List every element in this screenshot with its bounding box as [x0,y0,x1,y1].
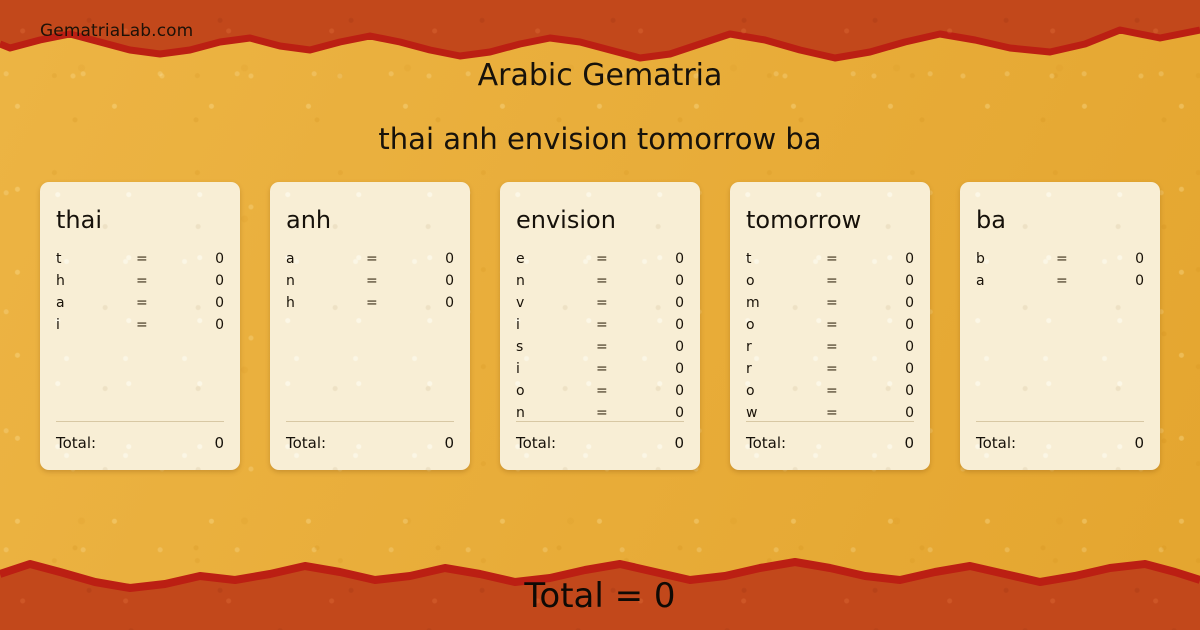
card-divider [746,421,914,422]
letter-row: o=0 [746,317,914,339]
equals-sign: = [596,273,640,289]
card-total-label: Total: [976,434,1016,452]
word-card-footer: Total:0 [286,421,454,452]
equals-sign: = [596,361,640,377]
letter-row: b=0 [976,251,1144,273]
page-title: Arabic Gematria [0,58,1200,93]
equals-sign: = [826,251,870,267]
letter-label: i [516,317,596,333]
card-total-row: Total:0 [56,434,224,452]
site-brand[interactable]: GematriaLab.com [40,21,193,41]
letter-value: 0 [640,405,684,421]
equals-sign: = [826,361,870,377]
letter-row: n=0 [516,273,684,295]
equals-sign: = [596,405,640,421]
card-total-label: Total: [56,434,96,452]
letter-label: t [56,251,136,267]
letter-value: 0 [640,251,684,267]
word-card-title: envision [516,208,684,232]
letter-row: t=0 [746,251,914,273]
letter-label: n [516,273,596,289]
word-card-title: tomorrow [746,208,914,232]
equals-sign: = [596,383,640,399]
letter-label: w [746,405,826,421]
letter-label: r [746,361,826,377]
equals-sign: = [596,251,640,267]
card-divider [516,421,684,422]
card-total-row: Total:0 [516,434,684,452]
card-total-value: 0 [674,434,684,452]
letter-value: 0 [1100,251,1144,267]
equals-sign: = [596,317,640,333]
grand-total: Total = 0 [0,576,1200,616]
letter-label: v [516,295,596,311]
letter-label: s [516,339,596,355]
letter-label: o [746,273,826,289]
card-total-label: Total: [746,434,786,452]
equals-sign: = [136,251,180,267]
equals-sign: = [366,251,410,267]
gematria-page: GematriaLab.com Arabic Gematria thai anh… [0,0,1200,630]
letter-row: r=0 [746,339,914,361]
letter-value: 0 [640,317,684,333]
letter-value: 0 [640,361,684,377]
word-card-footer: Total:0 [56,421,224,452]
letter-value: 0 [870,251,914,267]
word-card-footer: Total:0 [746,421,914,452]
word-card-title: anh [286,208,454,232]
equals-sign: = [826,273,870,289]
phrase-subtitle: thai anh envision tomorrow ba [0,122,1200,156]
letter-label: t [746,251,826,267]
card-divider [976,421,1144,422]
letter-row: h=0 [286,295,454,317]
equals-sign: = [826,405,870,421]
card-total-row: Total:0 [286,434,454,452]
word-card-title: thai [56,208,224,232]
letter-row: r=0 [746,361,914,383]
letter-value: 0 [180,251,224,267]
letter-label: n [516,405,596,421]
card-total-value: 0 [444,434,454,452]
card-total-label: Total: [516,434,556,452]
letter-row: t=0 [56,251,224,273]
equals-sign: = [1056,251,1100,267]
letter-label: e [516,251,596,267]
letter-label: r [746,339,826,355]
equals-sign: = [826,295,870,311]
word-card-title: ba [976,208,1144,232]
word-card-footer: Total:0 [516,421,684,452]
letter-value: 0 [870,361,914,377]
equals-sign: = [826,339,870,355]
equals-sign: = [366,295,410,311]
equals-sign: = [826,383,870,399]
letter-row: i=0 [56,317,224,339]
letter-label: o [746,383,826,399]
letter-row: o=0 [516,383,684,405]
letter-value: 0 [870,383,914,399]
equals-sign: = [136,317,180,333]
letter-row: i=0 [516,317,684,339]
letter-label: b [976,251,1056,267]
letter-row: o=0 [746,273,914,295]
letter-rows: a=0n=0h=0 [286,251,454,317]
letter-label: a [56,295,136,311]
equals-sign: = [1056,273,1100,289]
letter-rows: b=0a=0 [976,251,1144,295]
letter-value: 0 [640,339,684,355]
word-card-footer: Total:0 [976,421,1144,452]
letter-value: 0 [870,405,914,421]
letter-row: n=0 [286,273,454,295]
letter-row: m=0 [746,295,914,317]
letter-row: s=0 [516,339,684,361]
letter-label: h [286,295,366,311]
card-total-row: Total:0 [976,434,1144,452]
equals-sign: = [826,317,870,333]
letter-label: i [516,361,596,377]
letter-value: 0 [870,295,914,311]
letter-value: 0 [410,295,454,311]
letter-rows: t=0h=0a=0i=0 [56,251,224,339]
letter-label: a [286,251,366,267]
word-card: anha=0n=0h=0Total:0 [270,182,470,470]
word-card: bab=0a=0Total:0 [960,182,1160,470]
letter-label: i [56,317,136,333]
equals-sign: = [136,273,180,289]
letter-value: 0 [640,295,684,311]
equals-sign: = [366,273,410,289]
letter-value: 0 [870,317,914,333]
letter-value: 0 [180,273,224,289]
word-card: envisione=0n=0v=0i=0s=0i=0o=0n=0Total:0 [500,182,700,470]
letter-row: h=0 [56,273,224,295]
card-total-value: 0 [1134,434,1144,452]
equals-sign: = [596,339,640,355]
letter-row: v=0 [516,295,684,317]
letter-label: m [746,295,826,311]
letter-label: n [286,273,366,289]
word-card: thait=0h=0a=0i=0Total:0 [40,182,240,470]
letter-value: 0 [180,317,224,333]
letter-label: a [976,273,1056,289]
card-total-row: Total:0 [746,434,914,452]
letter-label: h [56,273,136,289]
letter-value: 0 [180,295,224,311]
letter-row: o=0 [746,383,914,405]
letter-value: 0 [640,273,684,289]
card-total-label: Total: [286,434,326,452]
card-divider [286,421,454,422]
letter-rows: t=0o=0m=0o=0r=0r=0o=0w=0 [746,251,914,427]
letter-value: 0 [870,273,914,289]
card-total-value: 0 [214,434,224,452]
card-divider [56,421,224,422]
letter-label: o [516,383,596,399]
equals-sign: = [136,295,180,311]
letter-row: a=0 [56,295,224,317]
equals-sign: = [596,295,640,311]
letter-row: i=0 [516,361,684,383]
card-total-value: 0 [904,434,914,452]
letter-rows: e=0n=0v=0i=0s=0i=0o=0n=0 [516,251,684,427]
letter-row: e=0 [516,251,684,273]
word-card: tomorrowt=0o=0m=0o=0r=0r=0o=0w=0Total:0 [730,182,930,470]
letter-value: 0 [640,383,684,399]
letter-row: a=0 [286,251,454,273]
letter-label: o [746,317,826,333]
word-cards-container: thait=0h=0a=0i=0Total:0anha=0n=0h=0Total… [40,182,1160,470]
letter-value: 0 [870,339,914,355]
letter-value: 0 [410,251,454,267]
letter-value: 0 [1100,273,1144,289]
letter-value: 0 [410,273,454,289]
letter-row: a=0 [976,273,1144,295]
